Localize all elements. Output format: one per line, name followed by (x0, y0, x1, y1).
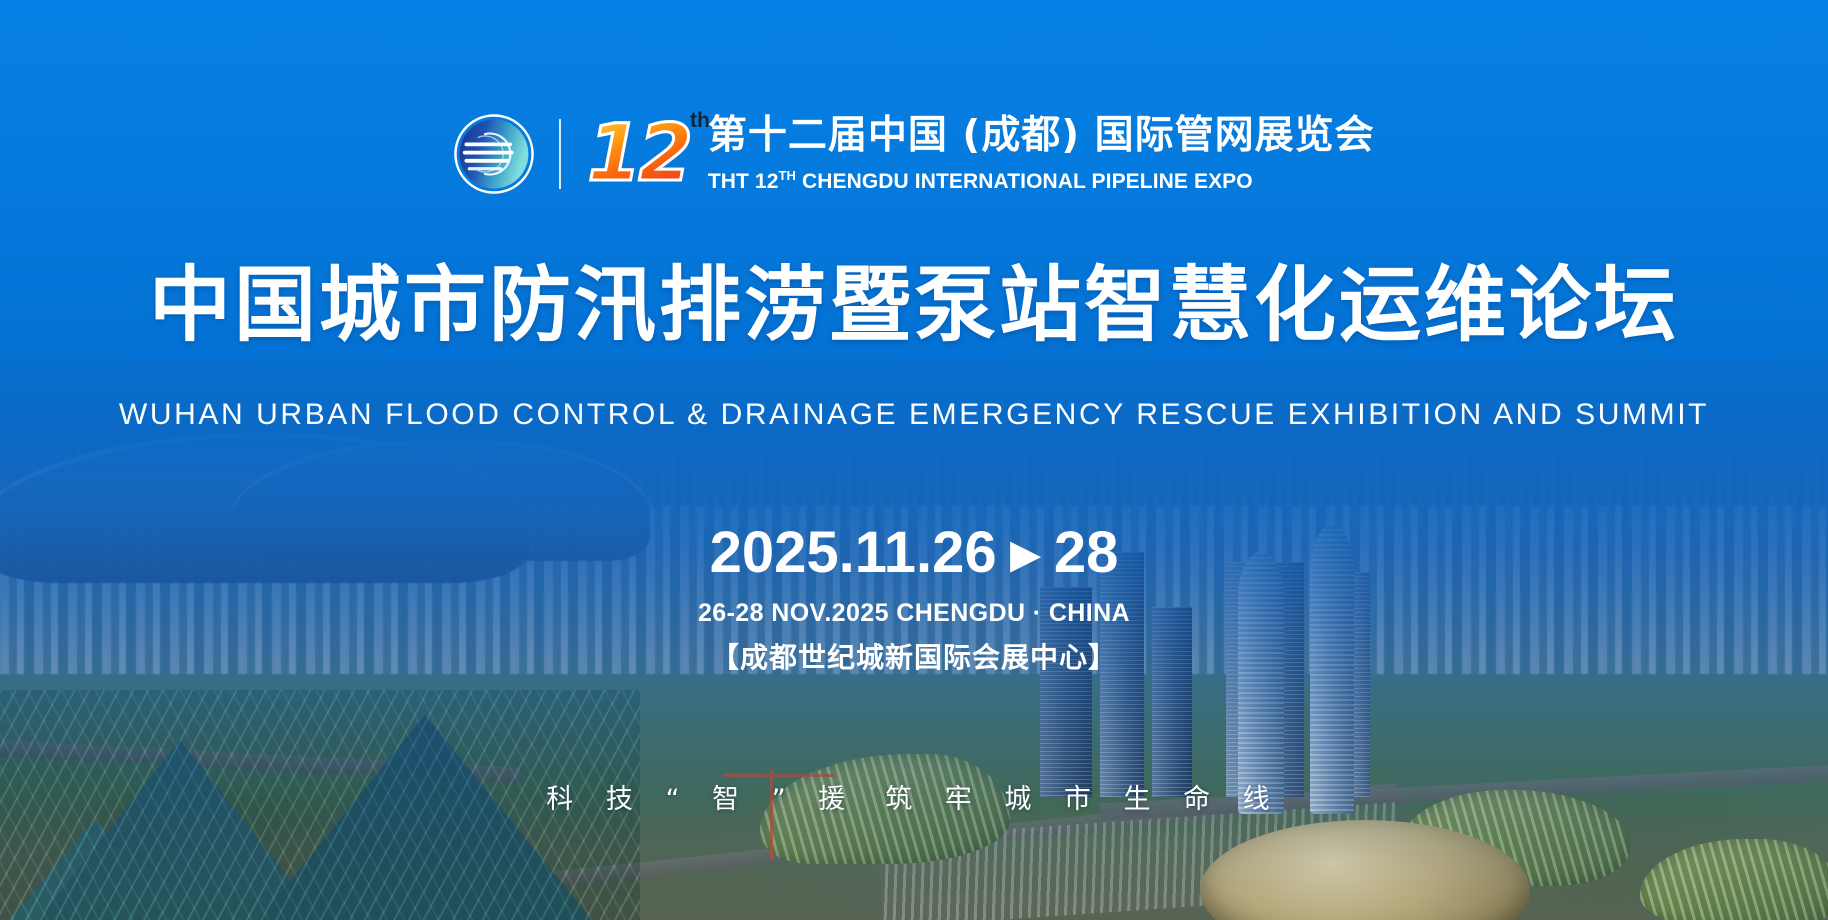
vertical-divider-icon (559, 119, 561, 189)
poster-canvas: 12 th 第十二届中国 (成都) 国际管网展览会 THT 12TH CHENG… (0, 0, 1828, 920)
page-title: 中国城市防汛排涝暨泵站智慧化运维论坛 (0, 258, 1828, 354)
event-date-en: 26-28 NOV.2025 CHENGDU · CHINA (0, 598, 1828, 628)
expo-title-en-prefix: THT 12 (708, 170, 779, 193)
expo-title-en-sup: TH (778, 168, 796, 183)
expo-title-en: THT 12TH CHENGDU INTERNATIONAL PIPELINE … (708, 162, 1375, 196)
event-date-start: 2025.11.26 (710, 520, 997, 585)
expo-header-lockup: 12 th 第十二届中国 (成都) 国际管网展览会 THT 12TH CHENG… (0, 112, 1828, 196)
play-triangle-icon: ▶ (1011, 522, 1040, 588)
event-tagline: 科 技 “ 智 ” 援筑 牢 城 市 生 命 线 (0, 782, 1828, 818)
event-date-block: 2025.11.26▶28 26-28 NOV.2025 CHENGDU · C… (0, 520, 1828, 676)
event-date-primary: 2025.11.26▶28 (0, 520, 1828, 588)
tagline-part-2: 筑 牢 城 市 生 命 线 (885, 784, 1282, 815)
edition-suffix: th (690, 109, 710, 133)
expo-title-group: 第十二届中国 (成都) 国际管网展览会 THT 12TH CHENGDU INT… (708, 112, 1375, 196)
page-subtitle-en: WUHAN URBAN FLOOD CONTROL & DRAINAGE EME… (0, 398, 1828, 432)
edition-number-graphic: 12 th (587, 113, 690, 195)
edition-number: 12 (587, 113, 690, 195)
expo-title-cn: 第十二届中国 (成都) 国际管网展览会 (708, 112, 1375, 160)
tagline-part-1: 科 技 “ 智 ” 援 (546, 784, 857, 815)
expo-title-en-rest: CHENGDU INTERNATIONAL PIPELINE EXPO (796, 170, 1253, 193)
pipeline-circle-emblem-icon (453, 113, 535, 195)
event-venue: 【成都世纪城新国际会展中心】 (0, 640, 1828, 676)
event-date-end-day: 28 (1054, 520, 1119, 585)
poster-content: 12 th 第十二届中国 (成都) 国际管网展览会 THT 12TH CHENG… (0, 0, 1828, 920)
